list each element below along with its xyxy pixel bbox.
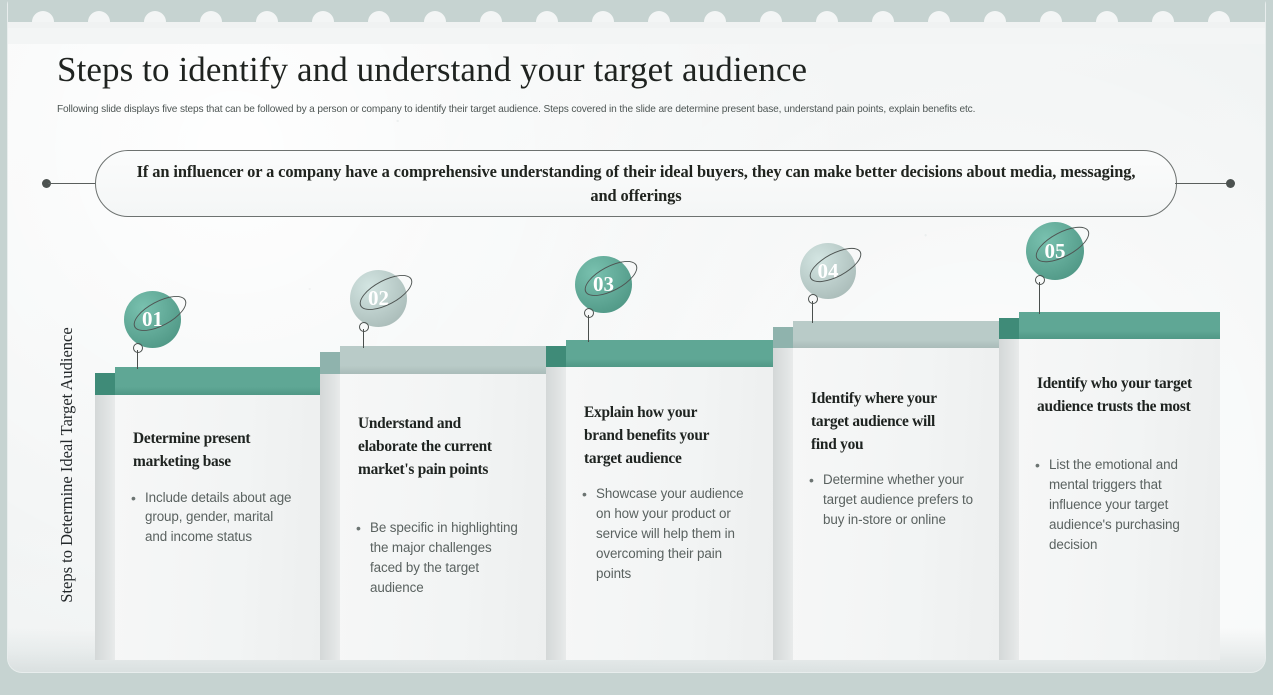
- step-tread: [793, 321, 1015, 348]
- bullet-dot-icon: •: [356, 518, 370, 597]
- marker-string: [588, 315, 589, 342]
- marker-knot: [359, 322, 369, 332]
- step-number-marker-01[interactable]: 01: [124, 291, 211, 371]
- step-bullet: •List the emotional and mental triggers …: [1035, 455, 1206, 554]
- step-tread: [566, 340, 788, 367]
- bullet-text: Showcase your audience on how your produ…: [596, 484, 748, 583]
- step-bullet: •Determine whether your target audience …: [809, 470, 977, 529]
- step-tread: [1019, 312, 1220, 339]
- staircase-step-05[interactable]: Identify who your target audience trusts…: [999, 312, 1242, 660]
- step-heading: Determine present marketing base: [133, 428, 281, 474]
- step-heading: Understand and elaborate the current mar…: [358, 413, 506, 481]
- step-heading: Explain how your brand benefits your tar…: [584, 402, 734, 470]
- marker-string: [812, 301, 813, 323]
- column-side-face: [773, 348, 793, 660]
- bullet-text: Be specific in highlighting the major ch…: [370, 518, 520, 597]
- bullet-dot-icon: •: [582, 484, 596, 583]
- bullet-text: Include details about age group, gender,…: [145, 488, 295, 547]
- staircase-step-03[interactable]: Explain how your brand benefits your tar…: [546, 340, 810, 660]
- staircase-step-04[interactable]: Identify where your target audience will…: [773, 321, 1037, 660]
- step-tread: [340, 346, 562, 374]
- bullet-dot-icon: •: [131, 488, 145, 547]
- step-number-marker-04[interactable]: 04: [800, 243, 886, 325]
- torn-paper-top-edge: [8, 0, 1265, 44]
- banner-text: If an influencer or a company have a com…: [122, 160, 1150, 207]
- banner-pill: If an influencer or a company have a com…: [95, 150, 1177, 217]
- marker-knot: [808, 294, 818, 304]
- bullet-dot-icon: •: [809, 470, 823, 529]
- marker-knot: [1035, 275, 1045, 285]
- marker-string: [1039, 282, 1040, 314]
- column-side-face: [95, 395, 115, 660]
- bullet-dot-icon: •: [1035, 455, 1049, 554]
- bullet-text: List the emotional and mental triggers t…: [1049, 455, 1206, 554]
- page-subtitle: Following slide displays five steps that…: [57, 104, 975, 115]
- step-bullet: •Include details about age group, gender…: [131, 488, 295, 547]
- vertical-axis-label: Steps to Determine Ideal Target Audience: [52, 270, 82, 660]
- step-number-marker-02[interactable]: 02: [350, 270, 437, 350]
- step-number-marker-03[interactable]: 03: [575, 256, 662, 344]
- bullet-text: Determine whether your target audience p…: [823, 470, 977, 529]
- column-side-face: [320, 374, 340, 660]
- step-heading: Identify where your target audience will…: [811, 388, 963, 456]
- callout-banner: If an influencer or a company have a com…: [40, 150, 1235, 220]
- staircase-step-02[interactable]: Understand and elaborate the current mar…: [320, 346, 584, 660]
- column-side-face: [999, 339, 1019, 660]
- banner-right-dot: [1226, 179, 1235, 188]
- page-title: Steps to identify and understand your ta…: [57, 50, 807, 90]
- banner-right-connector: [1175, 183, 1233, 184]
- step-tread: [115, 367, 337, 395]
- step-heading: Identify who your target audience trusts…: [1037, 373, 1192, 419]
- step-bullet: •Showcase your audience on how your prod…: [582, 484, 748, 583]
- step-number-marker-05[interactable]: 05: [1026, 222, 1114, 316]
- marker-knot: [584, 308, 594, 318]
- marker-knot: [133, 343, 143, 353]
- step-bullet: •Be specific in highlighting the major c…: [356, 518, 520, 597]
- column-side-face: [546, 367, 566, 660]
